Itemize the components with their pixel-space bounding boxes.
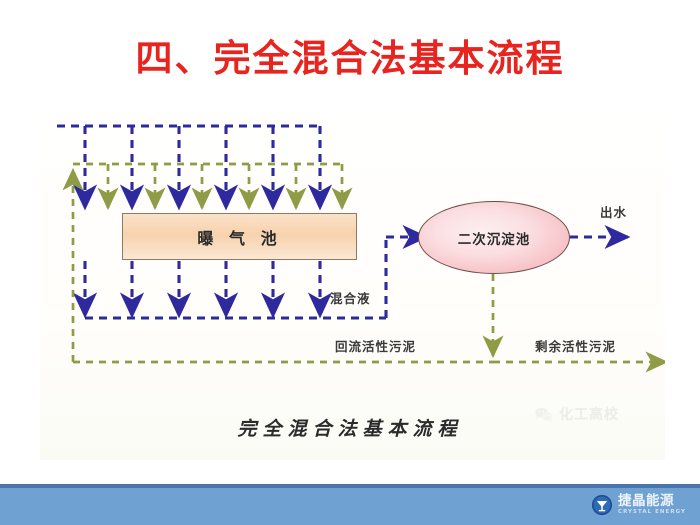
excess-sludge-label: 剩余活性污泥 xyxy=(535,336,616,355)
brand-name-en: CRYSTAL ENERGY xyxy=(618,510,686,515)
crystal-energy-logo-icon xyxy=(591,494,613,516)
slide-canvas: 四、完全混合法基本流程 xyxy=(0,0,700,525)
return-sludge-green-network xyxy=(73,164,493,362)
page-title: 四、完全混合法基本流程 xyxy=(0,28,700,82)
brand-wordmark: 捷晶能源 CRYSTAL ENERGY xyxy=(618,495,686,516)
influent-blue-network xyxy=(57,126,320,208)
aeration-tank-unit: 曝 气 池 xyxy=(122,213,357,260)
watermark: 化工高校 xyxy=(534,404,619,424)
wechat-icon xyxy=(534,405,553,424)
brand-name-cn: 捷晶能源 xyxy=(618,495,686,509)
effluent-label: 出水 xyxy=(600,202,627,221)
return-sludge-label: 回流活性污泥 xyxy=(335,336,416,355)
footer-brand: 捷晶能源 CRYSTAL ENERGY xyxy=(591,494,686,516)
aeration-tank-label: 曝 气 池 xyxy=(197,225,281,249)
secondary-clarifier-label: 二次沉淀池 xyxy=(458,228,531,248)
secondary-clarifier-unit: 二次沉淀池 xyxy=(418,201,570,274)
mixed-liquor-label: 混合液 xyxy=(330,288,371,307)
watermark-text: 化工高校 xyxy=(559,404,619,424)
